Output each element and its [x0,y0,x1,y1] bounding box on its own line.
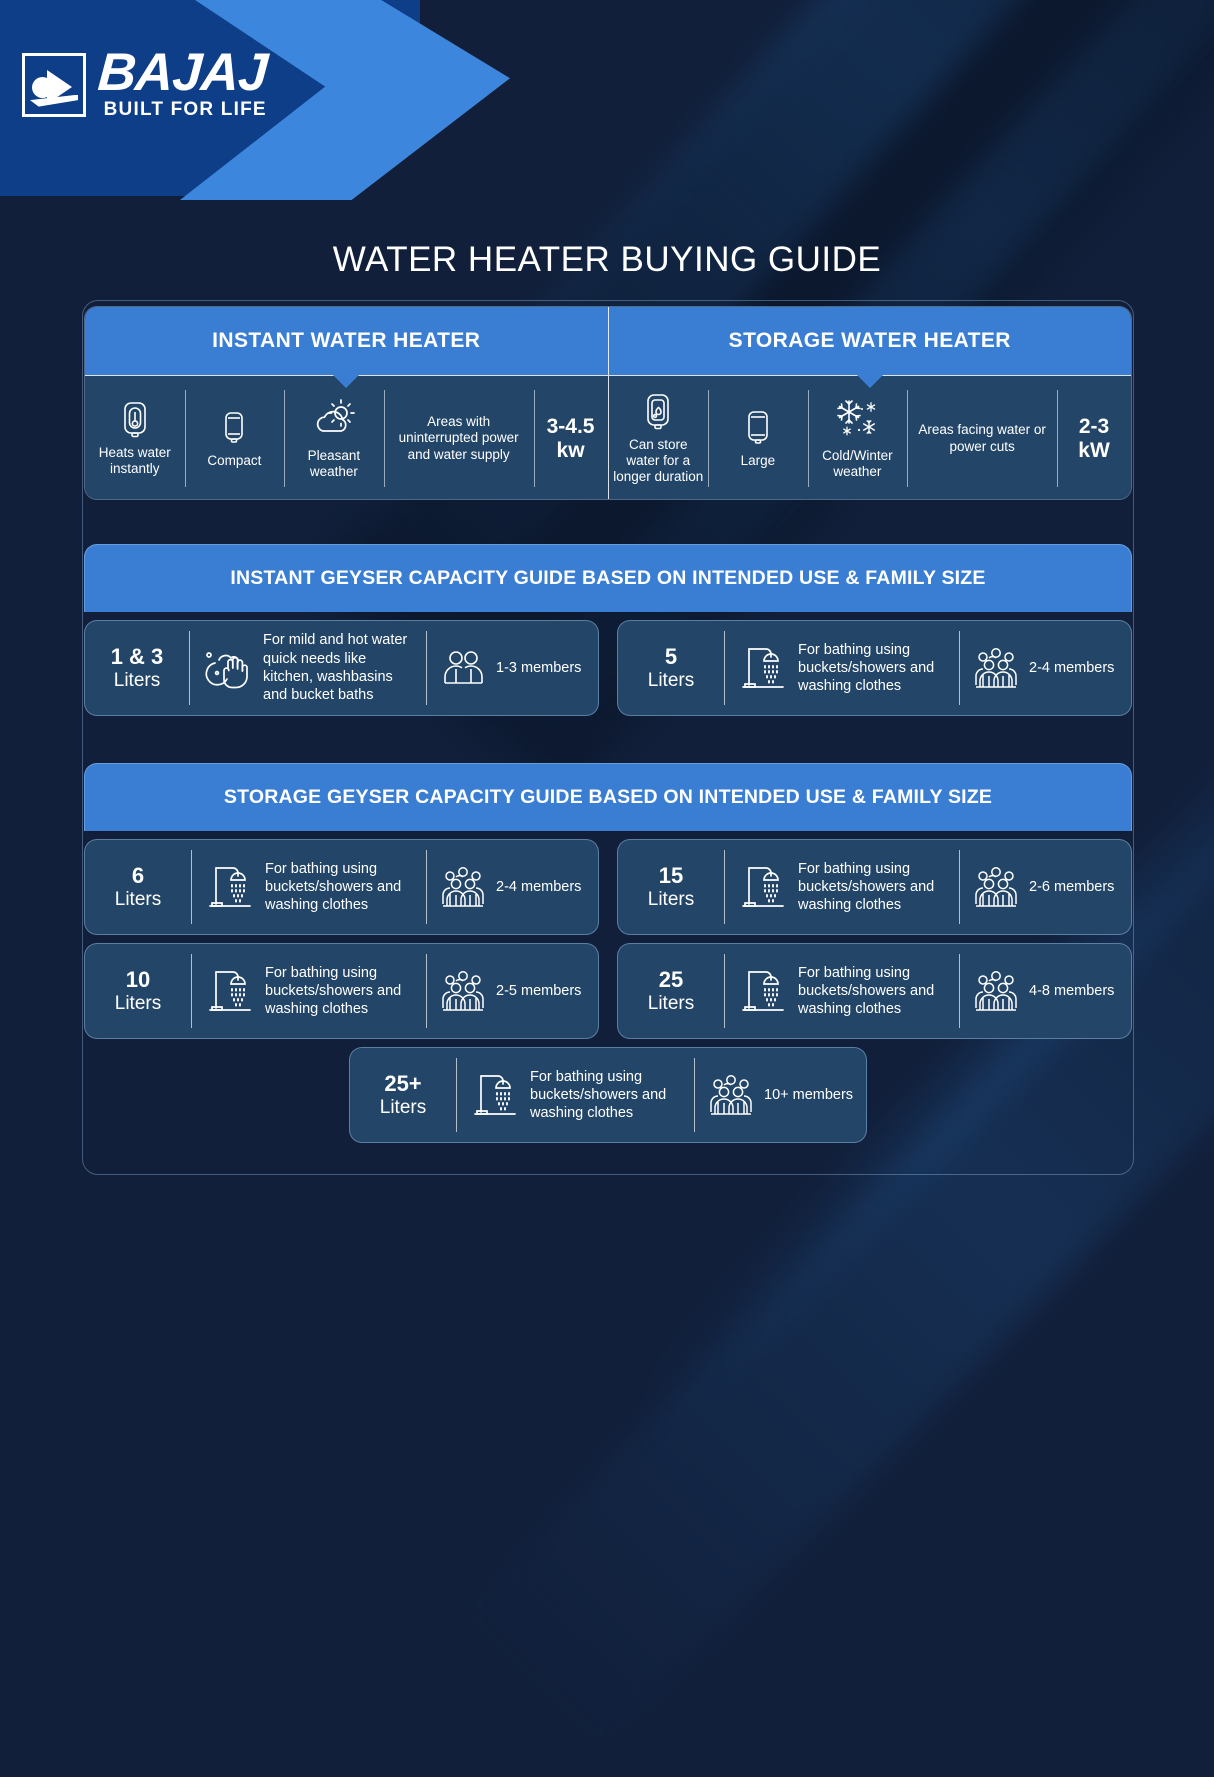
family-text: 2-5 members [496,982,581,1000]
capacity-value: 25 [659,967,683,992]
capacity-size: 6 Liters [85,840,191,934]
capacity-value: 1 & 3 [111,644,164,669]
brand-name: BAJAJ [96,48,268,98]
capacity-use: For bathing using buckets/showers and wa… [191,840,426,934]
feature-label: Pleasant weather [288,448,380,480]
feature-wattage-storage: 2-3 kW [1057,376,1131,500]
feature-power-supply: Areas with uninterrupted power and water… [384,376,534,500]
shower-icon [736,966,788,1016]
capacity-size: 25 Liters [618,944,724,1038]
capacity-card-25plus: 25+ Liters For bathing using buckets/sh [349,1047,867,1143]
capacity-use: For bathing using buckets/showers and wa… [724,944,959,1038]
bajaj-logo: BAJAJ BUILT FOR LIFE [22,48,267,121]
capacity-card-1-3l: 1 & 3 Liters For mild and [84,620,599,716]
capacity-family: 2-4 members [959,621,1131,715]
instant-capacity-section: INSTANT GEYSER CAPACITY GUIDE BASED ON I… [84,544,1132,716]
family-group-icon [708,1072,754,1118]
family-group-icon [440,864,486,910]
capacity-value: 15 [659,863,683,888]
capacity-family: 4-8 members [959,944,1131,1038]
family-group-icon [973,645,1019,691]
capacity-use: For bathing using buckets/showers and wa… [456,1048,694,1142]
capacity-size: 15 Liters [618,840,724,934]
comparison-header-storage: STORAGE WATER HEATER [608,307,1132,375]
wattage-value: 3-4.5 kw [538,415,604,462]
feature-large: Large [708,376,808,500]
page-title: WATER HEATER BUYING GUIDE [0,240,1214,280]
compact-tank-icon [217,408,251,448]
instant-heater-title: INSTANT WATER HEATER [212,329,480,353]
feature-label: Large [741,453,776,469]
capacity-card-25l: 25 Liters For bathing using buckets/sho [617,943,1132,1039]
use-text: For mild and hot water quick needs like … [263,631,416,704]
instant-feature-group: Heats water instantly Compact [85,376,608,500]
use-text: For bathing using buckets/showers and wa… [798,641,949,696]
capacity-card-6l: 6 Liters For bathing using buckets/show [84,839,599,935]
large-tank-icon [741,408,775,448]
feature-power-cuts: Areas facing water or power cuts [907,376,1057,500]
family-text: 1-3 members [496,659,581,677]
capacity-card-15l: 15 Liters For bathing using buckets/sho [617,839,1132,935]
capacity-use: For bathing using buckets/showers and wa… [724,840,959,934]
brand-header: BAJAJ BUILT FOR LIFE [0,0,520,200]
family-text: 2-6 members [1029,878,1114,896]
capacity-value: 5 [665,644,677,669]
tank-water-drop-icon [641,392,675,432]
feature-label: Areas facing water or power cuts [911,422,1053,454]
feature-label: Heats water instantly [89,445,181,477]
capacity-row: 1 & 3 Liters For mild and [84,620,1132,716]
capacity-family: 1-3 members [426,621,598,715]
snowflake-icon [834,397,880,443]
feature-cold-weather: Cold/Winter weather [808,376,908,500]
capacity-unit: Liters [115,993,161,1015]
capacity-value: 10 [126,967,150,992]
use-text: For bathing using buckets/showers and wa… [798,964,949,1019]
capacity-unit: Liters [648,889,694,911]
capacity-size: 10 Liters [85,944,191,1038]
feature-label: Cold/Winter weather [812,448,904,480]
instant-capacity-heading: INSTANT GEYSER CAPACITY GUIDE BASED ON I… [84,544,1132,612]
wattage-value: 2-3 kW [1061,415,1127,462]
capacity-row: 6 Liters For bathing using buckets/show [84,839,1132,935]
capacity-unit: Liters [380,1097,426,1119]
shower-icon [468,1070,520,1120]
capacity-card-5l: 5 Liters [617,620,1132,716]
capacity-unit: Liters [648,993,694,1015]
bajaj-arrow-logo-icon [22,53,86,117]
capacity-family: 2-5 members [426,944,598,1038]
tank-thermometer-icon [118,400,152,440]
capacity-size: 5 Liters [618,621,724,715]
capacity-use: For bathing using buckets/showers and wa… [724,621,959,715]
family-group-icon [973,968,1019,1014]
capacity-unit: Liters [648,670,694,692]
hand-water-tap-icon [201,643,253,693]
use-text: For bathing using buckets/showers and wa… [265,860,416,915]
use-text: For bathing using buckets/showers and wa… [265,964,416,1019]
capacity-card-10l: 10 Liters For bathing using buckets/sho [84,943,599,1039]
shower-icon [736,862,788,912]
feature-compact: Compact [185,376,285,500]
family-group-icon [440,968,486,1014]
family-text: 4-8 members [1029,982,1114,1000]
comparison-card: INSTANT WATER HEATER STORAGE WATER HEATE… [84,306,1132,500]
storage-capacity-section: STORAGE GEYSER CAPACITY GUIDE BASED ON I… [84,763,1132,1143]
use-text: For bathing using buckets/showers and wa… [530,1068,684,1123]
sun-cloud-icon [311,397,357,443]
feature-pleasant-weather: Pleasant weather [284,376,384,500]
shower-icon [203,862,255,912]
capacity-unit: Liters [115,889,161,911]
capacity-row-final: 25+ Liters For bathing using buckets/sh [84,1047,1132,1143]
shower-icon [203,966,255,1016]
storage-heater-title: STORAGE WATER HEATER [729,329,1011,353]
capacity-use: For bathing using buckets/showers and wa… [191,944,426,1038]
capacity-size: 1 & 3 Liters [85,621,189,715]
capacity-unit: Liters [114,670,160,692]
capacity-value: 25+ [384,1071,421,1096]
family-group-icon [973,864,1019,910]
feature-wattage-instant: 3-4.5 kw [534,376,608,500]
feature-label: Areas with uninterrupted power and water… [388,414,530,463]
feature-heats-instantly: Heats water instantly [85,376,185,500]
comparison-header-instant: INSTANT WATER HEATER [85,307,608,375]
family-text: 10+ members [764,1086,853,1104]
brand-tagline: BUILT FOR LIFE [98,99,267,121]
storage-capacity-heading: STORAGE GEYSER CAPACITY GUIDE BASED ON I… [84,763,1132,831]
capacity-family: 2-4 members [426,840,598,934]
capacity-use: For mild and hot water quick needs like … [189,621,426,715]
storage-feature-group: Can store water for a longer duration La… [608,376,1132,500]
feature-stores-water: Can store water for a longer duration [609,376,709,500]
family-text: 2-4 members [1029,659,1114,677]
capacity-value: 6 [132,863,144,888]
feature-label: Compact [207,453,261,469]
use-text: For bathing using buckets/showers and wa… [798,860,949,915]
shower-icon [736,643,788,693]
two-people-icon [440,645,486,691]
capacity-family: 2-6 members [959,840,1131,934]
capacity-family: 10+ members [694,1048,866,1142]
capacity-row: 10 Liters For bathing using buckets/sho [84,943,1132,1039]
capacity-size: 25+ Liters [350,1048,456,1142]
family-text: 2-4 members [496,878,581,896]
feature-label: Can store water for a longer duration [613,437,705,486]
